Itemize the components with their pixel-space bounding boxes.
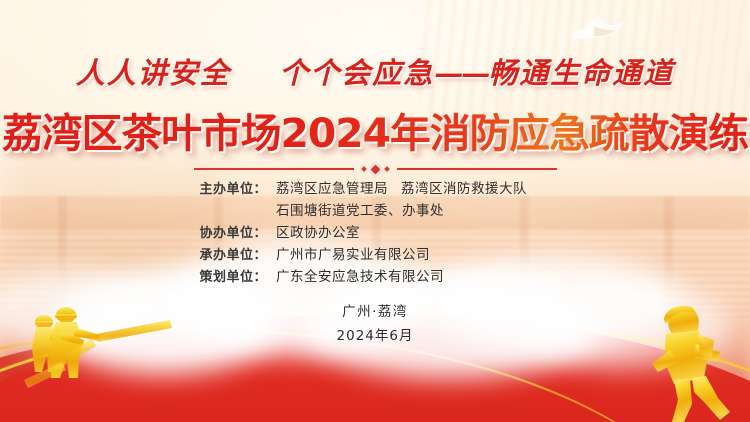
slogan-part-1: 人人讲安全	[76, 56, 231, 90]
page-title: 荔湾区茶叶市场2024年消防应急疏散演练	[0, 101, 750, 159]
organizer-list: 主办单位： 荔湾区应急管理局荔湾区消防救援大队 石围塘街道党工委、办事处 协办单…	[0, 177, 750, 287]
organizer-value: 区政协办公室	[276, 221, 360, 241]
organizer-row: 协办单位： 区政协办公室	[185, 221, 565, 241]
organizer-row: 主办单位： 荔湾区应急管理局荔湾区消防救援大队	[185, 177, 565, 197]
divider-line-left	[194, 168, 354, 170]
organizer-label: 承办单位：	[185, 244, 267, 263]
organizer-row: 石围塘街道党工委、办事处	[185, 199, 565, 219]
event-slogan: 人人讲安全 个个会应急——畅通生命通道	[0, 50, 750, 92]
organizer-row: 承办单位： 广州市广易实业有限公司	[185, 243, 565, 263]
event-footer: 广州·荔湾 2024年6月	[0, 300, 750, 344]
divider-line-right	[397, 168, 557, 170]
slogan-part-3: 畅通生命通道	[488, 56, 674, 90]
decorative-divider	[0, 160, 750, 178]
organizer-label: 协办单位：	[185, 222, 267, 241]
slogan-dash: ——	[434, 56, 488, 90]
organizer-label: 主办单位：	[185, 178, 267, 197]
event-date: 2024年6月	[0, 324, 750, 344]
dove-icon	[560, 6, 630, 50]
event-banner: 人人讲安全 个个会应急——畅通生命通道 荔湾区茶叶市场2024年消防应急疏散演练…	[0, 0, 750, 422]
organizer-value: 石围塘街道党工委、办事处	[276, 199, 444, 219]
organizer-label: 策划单位：	[185, 266, 267, 285]
organizer-value: 广州市广易实业有限公司	[276, 243, 430, 263]
organizer-value: 荔湾区应急管理局荔湾区消防救援大队	[276, 177, 527, 197]
organizer-row: 策划单位： 广东全安应急技术有限公司	[185, 265, 565, 285]
diamond-ornament-icon	[362, 164, 389, 175]
organizer-value: 广东全安应急技术有限公司	[276, 265, 444, 285]
event-location: 广州·荔湾	[0, 300, 750, 320]
slogan-part-2: 个个会应急	[279, 56, 434, 90]
